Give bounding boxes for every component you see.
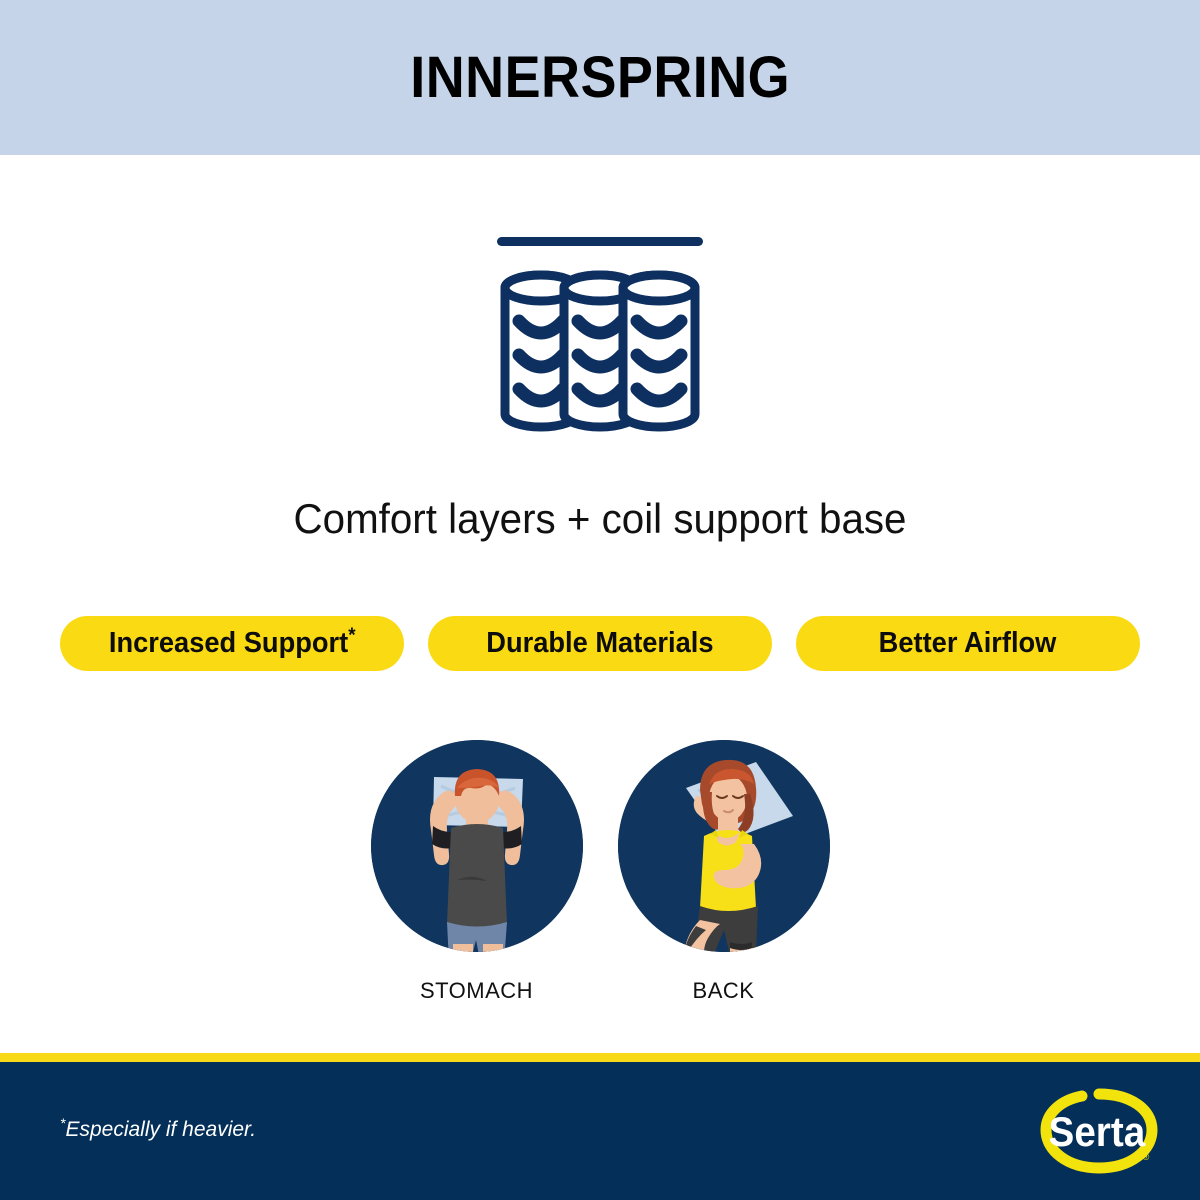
sleep-position-label: BACK	[693, 978, 755, 1004]
serta-logo[interactable]: Serta ®	[1038, 1086, 1160, 1178]
feature-pill-label: Better Airflow	[879, 629, 1057, 658]
support-bar	[497, 237, 703, 246]
coil-3	[623, 275, 695, 427]
registered-mark: ®	[1143, 1152, 1150, 1162]
footer-accent-stripe	[0, 1053, 1200, 1062]
feature-pill-durable-materials[interactable]: Durable Materials	[428, 616, 772, 671]
infographic-page: INNERSPRING	[0, 0, 1200, 1200]
back-sleeper-illustration	[618, 740, 830, 952]
sleep-position-row: STOMACH	[0, 740, 1200, 1004]
serta-wordmark: Serta	[1049, 1107, 1146, 1155]
feature-pill-better-airflow[interactable]: Better Airflow	[796, 616, 1140, 671]
stomach-sleeper-illustration	[371, 740, 583, 952]
tagline: Comfort layers + coil support base	[24, 495, 1176, 543]
asterisk-marker: *	[348, 624, 355, 646]
footnote: *Especially if heavier.	[60, 1118, 256, 1142]
coil-stack-icon	[485, 225, 715, 455]
feature-pill-label: Increased Support*	[109, 629, 356, 658]
header-band: INNERSPRING	[0, 0, 1200, 155]
feature-pill-label: Durable Materials	[486, 629, 713, 658]
feature-pill-row: Increased Support* Durable Materials Bet…	[60, 616, 1140, 671]
feature-pill-increased-support[interactable]: Increased Support*	[60, 616, 404, 671]
sleep-position-label: STOMACH	[420, 978, 533, 1004]
sleep-position-stomach[interactable]: STOMACH	[371, 740, 583, 1004]
sleep-position-back[interactable]: BACK	[618, 740, 830, 1004]
coil-icon-container	[0, 225, 1200, 455]
page-title: INNERSPRING	[410, 49, 790, 107]
